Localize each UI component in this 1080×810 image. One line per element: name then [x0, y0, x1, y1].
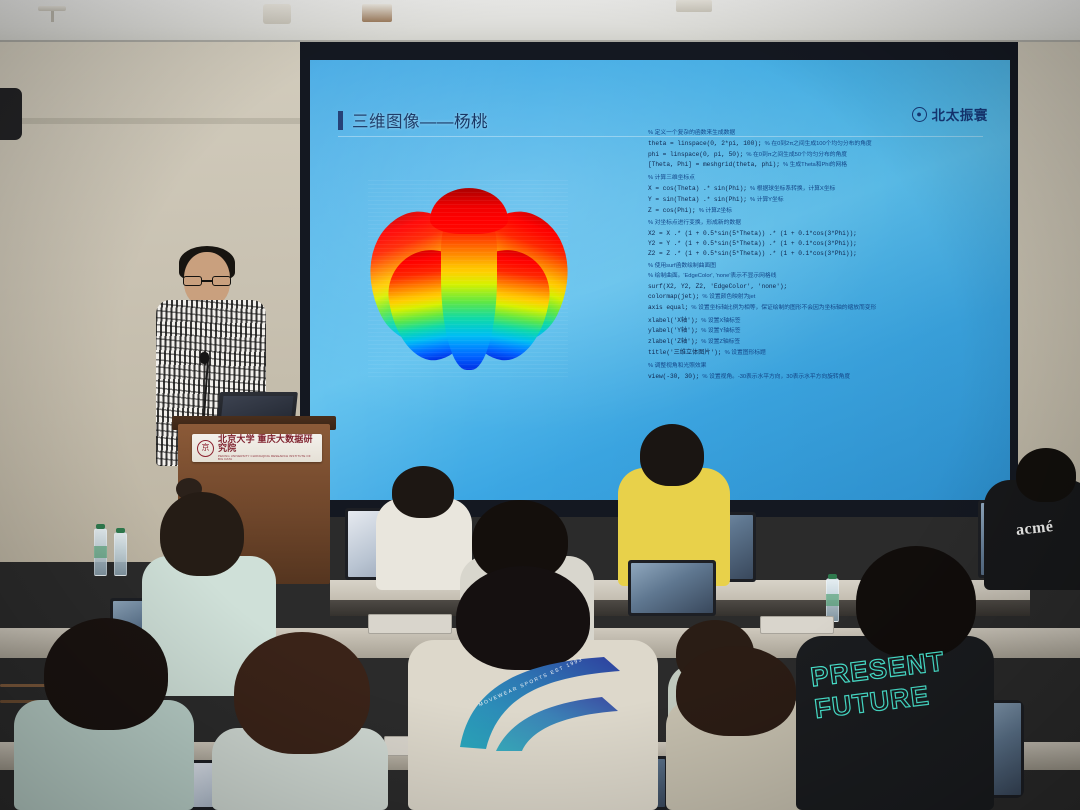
code-statement: [Theta, Phi] = meshgrid(theta, phi); — [648, 161, 780, 168]
code-comment: % 设置图形标题 — [721, 350, 765, 356]
code-line: [Theta, Phi] = meshgrid(theta, phi); % 生… — [648, 160, 998, 171]
code-line: % 绘制曲面。'EdgeColor', 'none'表示不显示网格线 — [648, 271, 998, 282]
brand-name: 北太振寰 — [932, 104, 988, 124]
code-comment: % 生成Theta和Phi的网格 — [780, 162, 847, 168]
code-statement: colormap(jet); — [648, 293, 699, 300]
code-comment: % 设置Z轴标签 — [698, 339, 740, 345]
code-line: X2 = X .* (1 + 0.5*sin(5*Theta)) .* (1 +… — [648, 229, 998, 239]
code-line: axis equal; % 设置坐标轴比例为相等，保证绘制的图形不会因为坐标轴的… — [648, 303, 998, 314]
audience-head-near-4 — [676, 646, 796, 736]
code-comment: % 计算Z坐标 — [696, 208, 732, 214]
code-line: % 调整视角和光照效果 — [648, 361, 998, 372]
code-statement: phi = linspace(0, pi, 50); — [648, 151, 743, 158]
code-line: theta = linspace(0, 2*pi, 100); % 在0到2π之… — [648, 139, 998, 150]
code-block-5: % 调整视角和光照效果view(-30, 30); % 设置视角。-30表示水平… — [648, 361, 998, 383]
ceiling-fixture-stem — [51, 10, 54, 22]
ceiling-light-icon — [362, 4, 392, 22]
ceiling — [0, 0, 1080, 44]
code-comment: % 计算Y坐标 — [747, 197, 784, 203]
code-comment: % 调整视角和光照效果 — [648, 363, 706, 369]
code-block-0: % 定义一个复杂的函数来生成数据theta = linspace(0, 2*pi… — [648, 128, 998, 171]
ceiling-sprinkler-icon — [38, 6, 66, 11]
lecture-hall-scene: 三维图像——杨桃 ● 北太振寰 % 定义一个复杂的函数来生成数据theta = … — [0, 0, 1080, 810]
university-seal-icon: 京 — [197, 440, 214, 457]
code-line: Z2 = Z .* (1 + 0.5*sin(5*Theta)) .* (1 +… — [648, 249, 998, 259]
bottle-cap-3 — [828, 574, 837, 579]
code-comment: % 定义一个复杂的函数来生成数据 — [648, 130, 735, 136]
code-comment: % 设置视角。-30表示水平方向，30表示水平方向旋转角度 — [699, 374, 850, 380]
slide-title: 三维图像——杨桃 — [352, 108, 488, 132]
title-accent-bar — [338, 111, 343, 130]
code-line: view(-30, 30); % 设置视角。-30表示水平方向，30表示水平方向… — [648, 372, 998, 383]
podium-sign-en: PEKING UNIVERSITY CHONGQING RESEARCH INS… — [218, 455, 317, 461]
code-statement: X2 = X .* (1 + 0.5*sin(5*Theta)) .* (1 +… — [648, 230, 857, 237]
ceiling-vent-icon — [676, 0, 712, 12]
podium-sign-cn: 北京大学 重庆大数据研究院 — [218, 435, 317, 453]
bottle-label-1 — [94, 546, 107, 558]
code-block-2: % 对坐标点进行变换，形成新的数据X2 = X .* (1 + 0.5*sin(… — [648, 218, 998, 258]
code-comment: % 根据球坐标系转换，计算X坐标 — [747, 186, 835, 192]
code-block-4: xlabel('X轴'); % 设置X轴标签ylabel('Y轴'); % 设置… — [648, 316, 998, 359]
code-statement: theta = linspace(0, 2*pi, 100); — [648, 140, 762, 147]
code-block-1: % 计算三维坐标点X = cos(Theta) .* sin(Phi); % 根… — [648, 173, 998, 216]
slide-title-group: 三维图像——杨桃 — [338, 108, 488, 132]
code-comment: % 设置Y轴标签 — [698, 328, 740, 334]
code-line: X = cos(Theta) .* sin(Phi); % 根据球坐标系转换，计… — [648, 184, 998, 195]
code-line: Z = cos(Phi); % 计算Z坐标 — [648, 206, 998, 217]
code-line: Y2 = Y .* (1 + 0.5*sin(5*Theta)) .* (1 +… — [648, 239, 998, 249]
brand-circle-icon: ● — [912, 107, 927, 122]
audience-head-far-right — [1016, 448, 1076, 502]
code-line: colormap(jet); % 设置颜色映射为jet — [648, 292, 998, 303]
code-line: % 定义一个复杂的函数来生成数据 — [648, 128, 998, 139]
shirt-graphic-graffiti: PRESENT FUTURE — [809, 643, 971, 770]
code-statement: zlabel('Z轴'); — [648, 338, 698, 345]
code-line: Y = sin(Theta) .* sin(Phi); % 计算Y坐标 — [648, 195, 998, 206]
laptop-screen — [631, 563, 713, 613]
code-line: zlabel('Z轴'); % 设置Z轴标签 — [648, 337, 998, 348]
code-line: surf(X2, Y2, Z2, 'EdgeColor', 'none'); — [648, 282, 998, 292]
code-comment: % 对坐标点进行变换，形成新的数据 — [648, 220, 741, 226]
code-line: % 使用surf函数绘制曲面图 — [648, 261, 998, 272]
code-comment: % 设置坐标轴比例为相等，保证绘制的图形不会因为坐标轴的缩放而变形 — [688, 305, 876, 311]
code-statement: X = cos(Theta) .* sin(Phi); — [648, 185, 747, 192]
microphone-icon — [200, 352, 209, 364]
podium-sign: 京 北京大学 重庆大数据研究院 PEKING UNIVERSITY CHONGQ… — [192, 434, 322, 462]
code-line: % 对坐标点进行变换，形成新的数据 — [648, 218, 998, 229]
wall-speaker-icon — [0, 88, 22, 140]
code-statement: ylabel('Y轴'); — [648, 327, 698, 334]
podium-sign-text: 北京大学 重庆大数据研究院 PEKING UNIVERSITY CHONGQIN… — [218, 435, 317, 461]
code-statement: Y = sin(Theta) .* sin(Phi); — [648, 196, 747, 203]
code-line: % 计算三维坐标点 — [648, 173, 998, 184]
code-line: title('三维立体图片'); % 设置图形标题 — [648, 348, 998, 359]
code-comment: % 设置X轴标签 — [698, 318, 740, 324]
code-line: xlabel('X轴'); % 设置X轴标签 — [648, 316, 998, 327]
surface-plot-3d — [368, 180, 568, 380]
bottle-cap-2 — [116, 528, 125, 533]
code-line: ylabel('Y轴'); % 设置Y轴标签 — [648, 326, 998, 337]
glasses-icon — [182, 276, 232, 286]
code-statement: surf(X2, Y2, Z2, 'EdgeColor', 'none'); — [648, 283, 787, 290]
audience-head-mid-1 — [160, 492, 244, 576]
audience-head-near-2 — [234, 632, 370, 754]
laptop-mid-1[interactable] — [628, 560, 716, 616]
keyboard-mid-2[interactable] — [760, 616, 834, 634]
code-statement: view(-30, 30); — [648, 373, 699, 380]
ceiling-speaker-icon — [263, 4, 291, 24]
code-comment: % 使用surf函数绘制曲面图 — [648, 263, 716, 269]
audience-head-near-1 — [44, 618, 168, 730]
audience-head-far-yellow — [640, 424, 704, 486]
code-statement: title('三维立体图片'); — [648, 349, 721, 356]
keyboard-mid-1[interactable] — [368, 614, 452, 634]
audience-head-near-5 — [856, 546, 976, 658]
code-comment: % 在0到2π之间生成100个均匀分布的角度 — [762, 141, 872, 147]
code-block-3: % 使用surf函数绘制曲面图% 绘制曲面。'EdgeColor', 'none… — [648, 261, 998, 314]
wall-right — [1010, 42, 1080, 512]
code-line: phi = linspace(0, pi, 50); % 在0到π之间生成50个… — [648, 150, 998, 161]
wall-trim-line — [0, 118, 312, 124]
plot-lobe-top — [430, 188, 508, 234]
code-comment: % 绘制曲面。'EdgeColor', 'none'表示不显示网格线 — [648, 273, 776, 279]
audience-head-far-white — [392, 466, 454, 518]
code-comment: % 计算三维坐标点 — [648, 175, 695, 181]
code-statement: axis equal; — [648, 304, 688, 311]
code-comment: % 设置颜色映射为jet — [699, 294, 755, 300]
water-bottle-2[interactable] — [114, 532, 127, 576]
code-statement: Y2 = Y .* (1 + 0.5*sin(5*Theta)) .* (1 +… — [648, 240, 857, 247]
code-statement: Z2 = Z .* (1 + 0.5*sin(5*Theta)) .* (1 +… — [648, 250, 857, 257]
brand-logo: ● 北太振寰 — [912, 104, 988, 124]
bottle-label-3 — [826, 594, 839, 606]
bottle-cap-1 — [96, 524, 105, 529]
shirt-graphic-swoosh: MOVEWEAR SPORTS EST 1993 — [452, 655, 622, 751]
slide-code-block: % 定义一个复杂的函数来生成数据theta = linspace(0, 2*pi… — [648, 128, 998, 384]
code-statement: Z = cos(Phi); — [648, 207, 696, 214]
code-statement: xlabel('X轴'); — [648, 317, 698, 324]
code-comment: % 在0到π之间生成50个均匀分布的角度 — [743, 152, 847, 158]
